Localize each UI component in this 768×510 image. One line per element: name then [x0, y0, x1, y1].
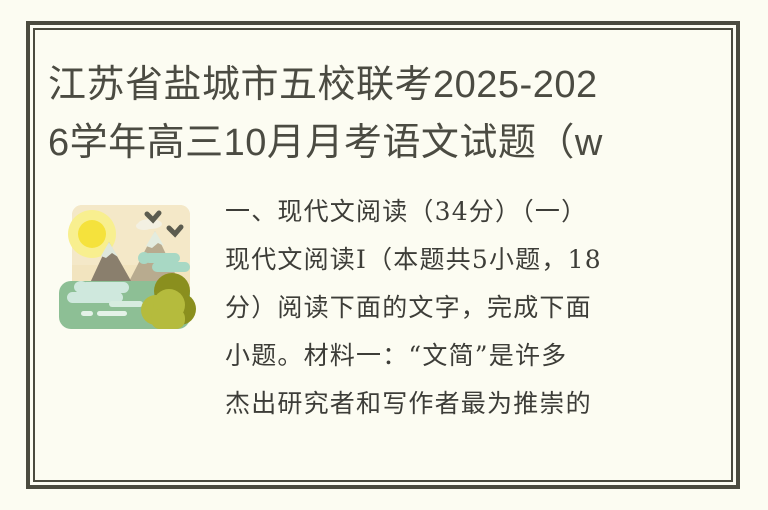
- excerpt-line-2: 现代文阅读Ⅰ（本题共5小题，18: [225, 236, 649, 284]
- document-preview-card: 江苏省盐城市五校联考2025-202 6学年高三10月月考语文试题（w: [0, 0, 768, 510]
- document-thumbnail-image[interactable]: [51, 193, 197, 357]
- thumbnail-water-highlight-3: [97, 311, 127, 316]
- document-title-line-1: 江苏省盐城市五校联考2025-202: [48, 56, 708, 114]
- thumbnail-cloud-mint-left: [67, 281, 129, 303]
- card-content: 江苏省盐城市五校联考2025-202 6学年高三10月月考语文试题（w: [33, 28, 733, 482]
- excerpt-line-4: 小题。材料一：“文简”是许多: [225, 332, 649, 380]
- excerpt-line-1: 一、现代文阅读（34分）（一）: [225, 188, 649, 236]
- thumbnail-water-highlight-1: [109, 301, 143, 307]
- excerpt-line-3: 分）阅读下面的文字，完成下面: [225, 284, 649, 332]
- document-excerpt[interactable]: 一、现代文阅读（34分）（一） 现代文阅读Ⅰ（本题共5小题，18 分）阅读下面的…: [225, 188, 649, 428]
- document-title-line-2: 6学年高三10月月考语文试题（w: [48, 114, 708, 172]
- excerpt-line-5: 杰出研究者和写作者最为推崇的: [225, 380, 649, 428]
- thumbnail-water-highlight-2: [81, 311, 93, 316]
- document-title[interactable]: 江苏省盐城市五校联考2025-202 6学年高三10月月考语文试题（w: [48, 56, 708, 172]
